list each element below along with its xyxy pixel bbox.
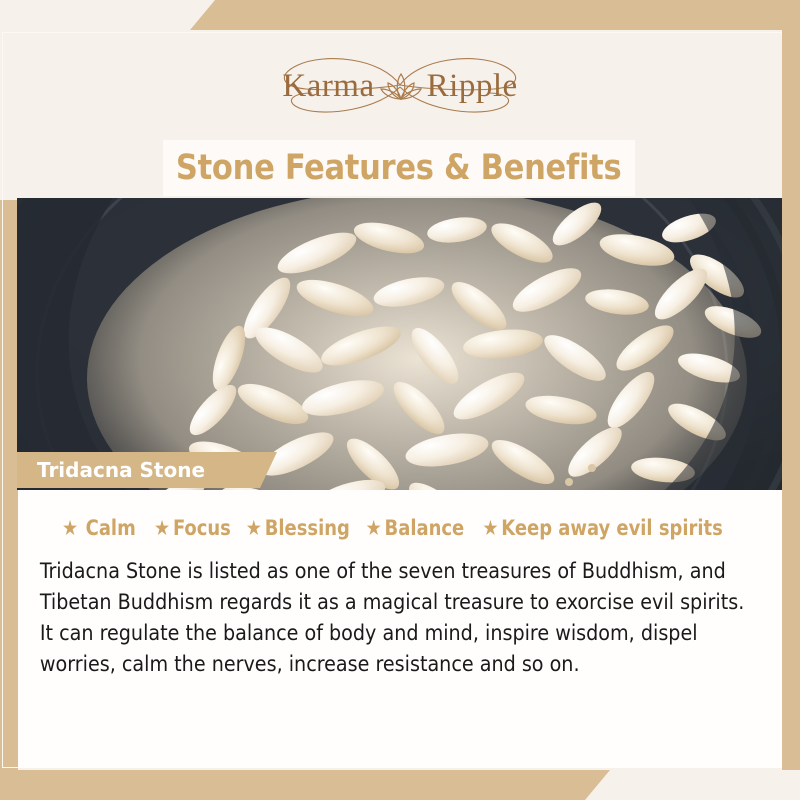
lotus-icon bbox=[379, 69, 423, 103]
frame-right-band bbox=[782, 0, 800, 770]
product-photo-image bbox=[17, 198, 782, 490]
description-paragraph: Tridacna Stone is listed as one of the s… bbox=[28, 556, 765, 680]
benefit-keyword-label-0: Calm bbox=[86, 516, 136, 540]
benefit-keyword-label-1: Focus bbox=[173, 516, 231, 540]
content-panel: ★ Calm ★ Focus ★ Blessing ★ Balance ★ Ke… bbox=[18, 490, 782, 768]
star-icon: ★ bbox=[483, 518, 499, 539]
product-info-card: Karma Ripple Stone Features & Benefits bbox=[0, 0, 800, 800]
brand-word-left: Karma bbox=[282, 70, 374, 103]
benefit-keyword-2: ★ Blessing bbox=[246, 516, 350, 540]
header: Karma Ripple bbox=[18, 34, 782, 138]
photo-caption-label: Tridacna Stone bbox=[17, 458, 205, 482]
star-icon: ★ bbox=[154, 518, 170, 539]
benefit-keyword-label-3: Balance bbox=[384, 516, 464, 540]
brand-logo: Karma Ripple bbox=[250, 51, 550, 121]
brand-word-right: Ripple bbox=[427, 70, 518, 103]
benefit-keyword-label-2: Blessing bbox=[265, 516, 350, 540]
benefit-keyword-list: ★ Calm ★ Focus ★ Blessing ★ Balance ★ Ke… bbox=[28, 516, 772, 540]
benefit-keyword-1: ★ Focus bbox=[154, 516, 231, 540]
star-icon: ★ bbox=[246, 518, 262, 539]
frame-top-band bbox=[0, 0, 800, 30]
page-title: Stone Features & Benefits bbox=[176, 148, 621, 188]
photo-caption-banner: Tridacna Stone bbox=[17, 452, 277, 488]
benefit-keyword-4: ★ Keep away evil spirits bbox=[483, 516, 723, 540]
star-icon: ★ bbox=[62, 518, 78, 539]
frame-left-band bbox=[0, 200, 18, 800]
product-photo bbox=[17, 198, 782, 490]
benefit-keyword-0: ★ Calm bbox=[62, 516, 136, 540]
benefit-keyword-3: ★ Balance bbox=[365, 516, 464, 540]
frame-bottom-band bbox=[0, 770, 800, 800]
benefit-keyword-label-4: Keep away evil spirits bbox=[502, 516, 723, 540]
star-icon: ★ bbox=[365, 518, 381, 539]
page-title-box: Stone Features & Benefits bbox=[163, 140, 635, 196]
